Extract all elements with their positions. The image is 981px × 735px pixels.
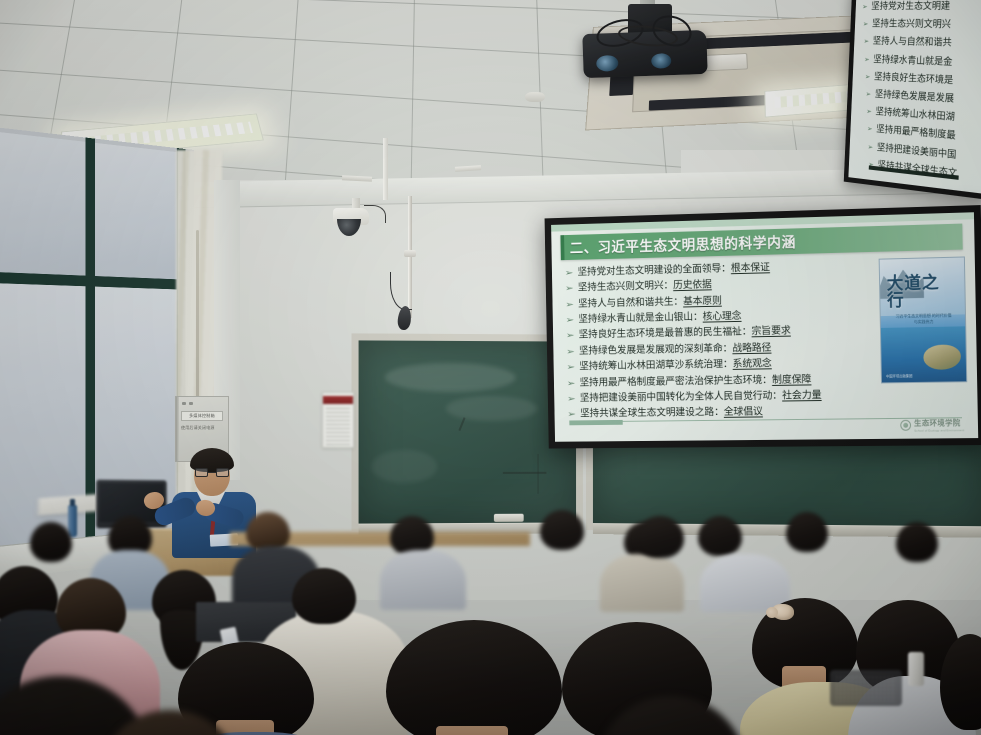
bullet-keyword: 根本保证 (731, 262, 770, 277)
bullet-keyword: 核心理念 (703, 310, 742, 325)
slide-footer-tab (569, 420, 622, 425)
projector-support-rod (383, 138, 388, 200)
audience-seating (0, 470, 981, 735)
bullet-arrow-icon: ➢ (867, 125, 877, 134)
bullet-arrow-icon: ➢ (565, 315, 580, 327)
bullet-text: 坚持统筹山水林田湖草沙系统治理： (579, 358, 733, 374)
slide-title-accent (560, 235, 564, 260)
panel-indicator-lights (182, 402, 193, 405)
student-head-with-glasses (636, 516, 684, 558)
panel-label-text: 多媒体控制箱 (189, 413, 215, 419)
bullet-arrow-icon: ➢ (862, 3, 872, 11)
bullet-arrow-icon: ➢ (567, 409, 582, 420)
student-head (786, 512, 828, 552)
student-body (380, 550, 466, 610)
main-projection-screen: 二、习近平生态文明思想的科学内涵 ➢坚持党对生态文明建设的全面领导：根本保证➢坚… (545, 205, 981, 448)
secondary-bullet-text: 坚持用最严格制度最 (876, 122, 956, 142)
institution-name: 生态环境学院 (914, 417, 964, 428)
slide-footer-logo: 生态环境学院 School of Ecology and Environment (900, 417, 964, 433)
bullet-text: 坚持人与自然和谐共生： (578, 296, 683, 312)
bullet-text: 坚持良好生态环境是最普惠的民生福祉： (579, 326, 752, 343)
student-body (600, 554, 684, 612)
bullet-arrow-icon: ➢ (565, 299, 580, 311)
bullet-arrow-icon: ➢ (566, 330, 581, 342)
panel-sub-label: 使用后请关闭电源 (181, 425, 223, 431)
bullet-arrow-icon: ➢ (565, 283, 580, 295)
student-body (700, 554, 790, 612)
student-head (30, 522, 72, 562)
wall-notice-poster (322, 392, 354, 448)
student-head (896, 522, 938, 562)
bullet-text: 坚持用最严格制度最严密法治保护生态环境： (579, 374, 772, 391)
secondary-bullet-text: 坚持统筹山水林田湖 (875, 104, 955, 123)
bullet-arrow-icon: ➢ (863, 38, 873, 46)
book-cover-subtitle: 习近平生态文明思想 的时代价值与实践伟力 (894, 312, 953, 327)
slide-title: 二、习近平生态文明思想的科学内涵 (560, 231, 796, 258)
secondary-bullet-text: 坚持良好生态环境是 (874, 69, 954, 86)
bullet-arrow-icon: ➢ (865, 90, 875, 99)
secondary-bullet-text: 坚持人与自然和谐共 (872, 34, 952, 49)
bullet-text: 坚持把建设美丽中国转化为全体人民自觉行动： (580, 390, 782, 407)
student-neck (436, 726, 508, 735)
bullet-arrow-icon: ➢ (567, 378, 582, 389)
presentation-slide: 二、习近平生态文明思想的科学内涵 ➢坚持党对生态文明建设的全面领导：根本保证➢坚… (551, 212, 978, 442)
institution-seal-icon (900, 420, 911, 431)
bullet-keyword: 战略路径 (732, 342, 771, 357)
secondary-bullet-text: 坚持绿水青山就是金 (873, 51, 953, 67)
hair-claw-clip (772, 604, 794, 620)
bullet-arrow-icon: ➢ (864, 55, 874, 63)
bullet-arrow-icon: ➢ (863, 20, 873, 28)
bullet-arrow-icon: ➢ (865, 73, 875, 82)
bullet-arrow-icon: ➢ (868, 142, 878, 151)
mesh-chair-back[interactable] (830, 670, 902, 706)
secondary-slide-bullet: ➢坚持党对生态文明建 (862, 0, 981, 12)
bullet-arrow-icon: ➢ (566, 346, 581, 358)
book-cover-publisher: 中国环境出版集团 (886, 373, 913, 378)
bullet-text: 坚持绿水青山就是金山银山： (578, 311, 702, 327)
bullet-keyword: 全球倡议 (724, 406, 763, 420)
secondary-bullet-text: 坚持生态兴则文明兴 (872, 16, 951, 30)
secondary-slide-bullet: ➢坚持人与自然和谐共 (860, 34, 981, 52)
bullet-keyword: 制度保障 (772, 373, 812, 388)
projector-lens (596, 55, 619, 72)
projector-lens-secondary (651, 53, 672, 69)
bullet-arrow-icon: ➢ (567, 393, 582, 404)
bullet-keyword: 社会力量 (782, 389, 822, 404)
bullet-text: 坚持生态兴则文明兴： (578, 280, 674, 296)
bullet-keyword: 基本原则 (683, 295, 722, 310)
secondary-projection-screen: ➢坚持党对生态文明建➢坚持生态兴则文明兴➢坚持人与自然和谐共➢坚持绿水青山就是金… (844, 0, 981, 200)
panel-label-plate: 多媒体控制箱 (181, 411, 223, 421)
book-cover-image: 大道之行 习近平生态文明思想 的时代价值与实践伟力 中国环境出版集团 (879, 256, 968, 383)
bullet-arrow-icon: ➢ (566, 362, 581, 374)
bullet-text: 坚持党对生态文明建设的全面领导： (577, 263, 731, 281)
student-head (540, 510, 584, 550)
secondary-bullet-text: 坚持绿色发展是发展 (875, 86, 955, 104)
student-head (292, 568, 356, 624)
bullet-keyword: 历史依据 (673, 279, 712, 294)
smoke-detector-icon (525, 92, 545, 102)
secondary-slide: ➢坚持党对生态文明建➢坚持生态兴则文明兴➢坚持人与自然和谐共➢坚持绿水青山就是金… (848, 0, 981, 194)
institution-name-english: School of Ecology and Environment (914, 428, 964, 432)
white-tumbler[interactable] (908, 652, 924, 686)
student-head-foreground (386, 620, 562, 735)
bullet-keyword: 系统观念 (733, 358, 772, 373)
bullet-text: 坚持绿色发展是发展观的深刻革命： (579, 342, 733, 359)
bullet-keyword: 宗旨要求 (751, 325, 790, 340)
student-head (698, 516, 742, 556)
secondary-slide-bullet: ➢坚持生态兴则文明兴 (861, 16, 981, 32)
book-cover-title: 大道之行 (887, 274, 957, 313)
lecture-hall-photo: 多媒体控制箱 使用后请关闭电源 ➢坚持 (0, 0, 981, 735)
bullet-arrow-icon: ➢ (565, 267, 580, 279)
bullet-arrow-icon: ➢ (866, 107, 876, 116)
secondary-bullet-text: 坚持党对生态文明建 (871, 0, 950, 12)
